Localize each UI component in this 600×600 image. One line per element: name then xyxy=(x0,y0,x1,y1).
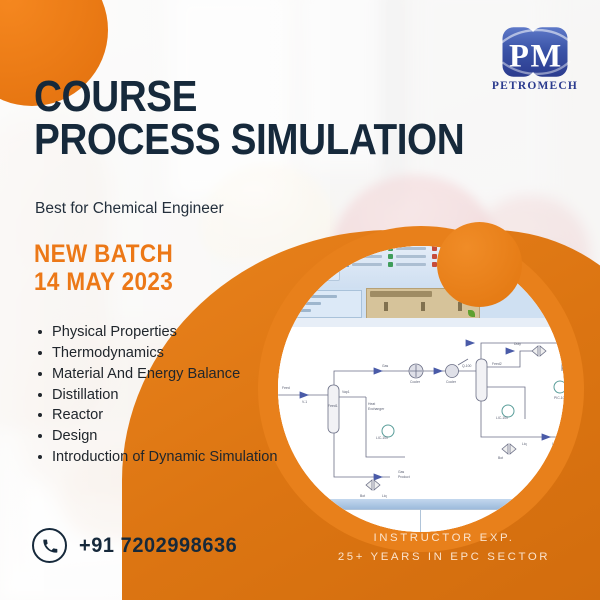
svg-text:P: P xyxy=(509,38,529,74)
list-item: Reactor xyxy=(52,405,314,426)
ribbon-big-button xyxy=(316,246,340,281)
page-title: COURSE PROCESS SIMULATION xyxy=(34,76,448,161)
list-item: Thermodynamics xyxy=(52,343,314,364)
svg-text:Liq: Liq xyxy=(382,494,387,498)
subtitle: Best for Chemical Engineer xyxy=(35,200,224,218)
batch-info: NEW BATCH 14 MAY 2023 xyxy=(34,240,173,296)
instructor-line-1: INSTRUCTOR EXP. xyxy=(298,529,590,548)
svg-text:Duty: Duty xyxy=(514,342,521,346)
svg-text:Cooler: Cooler xyxy=(446,380,457,384)
petromech-logo[interactable]: P M PETROMECH xyxy=(489,22,581,102)
svg-text:Cooler: Cooler xyxy=(410,380,421,384)
svg-text:Bot: Bot xyxy=(498,456,503,460)
svg-text:Liq: Liq xyxy=(552,442,557,446)
simulation-screenshot: Aspen HYSYS - Simulation xyxy=(278,246,564,532)
list-item: Physical Properties xyxy=(52,322,314,343)
svg-text:Feed1: Feed1 xyxy=(328,404,338,408)
svg-text:M: M xyxy=(530,38,561,74)
svg-text:Gas: Gas xyxy=(382,364,389,368)
list-item: Introduction of Dynamic Simulation xyxy=(52,447,314,468)
phone-icon xyxy=(32,528,67,563)
instructor-experience: INSTRUCTOR EXP. 25+ YEARS IN EPC SECTOR xyxy=(298,529,590,567)
pm-monogram-icon: P M xyxy=(496,22,574,82)
list-item: Material And Energy Balance xyxy=(52,364,314,385)
svg-text:PIC-100: PIC-100 xyxy=(554,396,564,400)
batch-label: NEW BATCH xyxy=(34,240,173,268)
title-line-1: COURSE xyxy=(34,72,197,121)
phone-number: +91 7202998636 xyxy=(79,534,237,558)
process-flow-diagram: Feed V-1 Feed1 Vap1 Gas Heat Exchanger C… xyxy=(278,327,564,499)
leaf-icon xyxy=(468,310,475,317)
logo-wordmark: PETROMECH xyxy=(489,80,581,92)
list-item: Distillation xyxy=(52,385,314,406)
batch-date: 14 MAY 2023 xyxy=(34,268,173,296)
svg-text:LIC-100: LIC-100 xyxy=(376,436,388,440)
title-line-2: PROCESS SIMULATION xyxy=(34,119,448,162)
svg-text:Q-100: Q-100 xyxy=(462,364,472,368)
svg-text:Bot: Bot xyxy=(360,494,365,498)
svg-text:Exchanger: Exchanger xyxy=(368,407,385,411)
svg-text:Heat: Heat xyxy=(368,402,375,406)
course-poster: Aspen HYSYS - Simulation xyxy=(0,0,600,600)
contact-phone[interactable]: +91 7202998636 xyxy=(32,528,246,563)
poster-content: COURSE PROCESS SIMULATION Best for Chemi… xyxy=(0,0,300,600)
topics-list: Physical Properties Thermodynamics Mater… xyxy=(30,322,314,468)
svg-text:Vap1: Vap1 xyxy=(342,390,350,394)
svg-text:Feed2: Feed2 xyxy=(492,362,502,366)
flowsheet-canvas: Feed V-1 Feed1 Vap1 Gas Heat Exchanger C… xyxy=(278,327,564,499)
instructor-line-2: 25+ YEARS IN EPC SECTOR xyxy=(298,548,590,567)
svg-text:LIC-100: LIC-100 xyxy=(496,416,508,420)
list-item: Design xyxy=(52,426,314,447)
orange-dot-top-right xyxy=(437,222,522,307)
svg-text:Prod: Prod xyxy=(552,447,559,451)
svg-text:Product: Product xyxy=(398,475,410,479)
svg-text:Liq: Liq xyxy=(522,442,527,446)
svg-text:Gas: Gas xyxy=(398,470,405,474)
